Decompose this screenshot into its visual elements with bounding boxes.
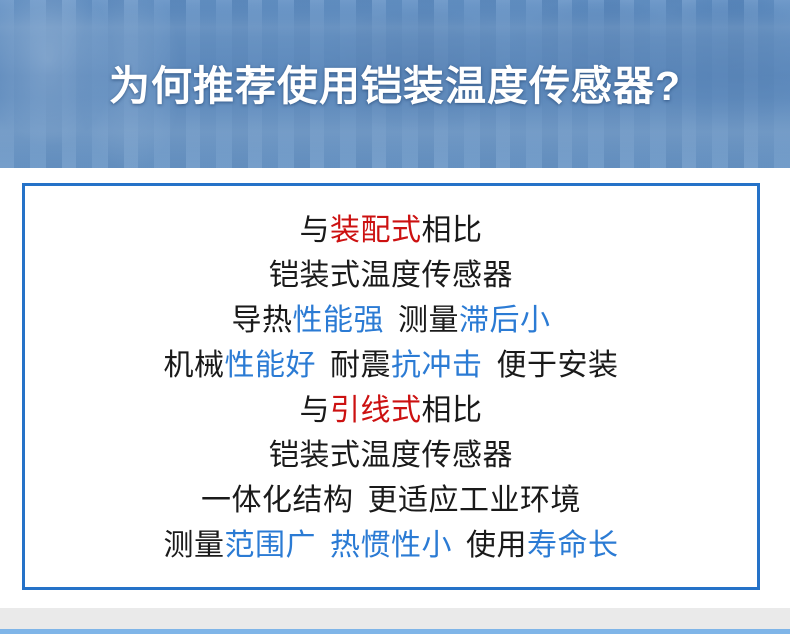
content-panel: 与装配式相比铠装式温度传感器导热性能强测量滞后小机械性能好耐震抗冲击便于安装与引… (0, 168, 790, 608)
feature-line: 与引线式相比 (25, 388, 757, 433)
feature-text-segment: 热惯性小 (330, 529, 452, 562)
feature-text-segment: 范围广 (225, 529, 317, 562)
feature-text-segment: 机械 (164, 349, 225, 382)
feature-list-frame: 与装配式相比铠装式温度传感器导热性能强测量滞后小机械性能好耐震抗冲击便于安装与引… (22, 183, 760, 590)
feature-line: 测量范围广热惯性小使用寿命长 (25, 523, 757, 568)
feature-text-segment: 相比 (422, 214, 483, 247)
feature-line: 机械性能好耐震抗冲击便于安装 (25, 343, 757, 388)
feature-text-segment: 滞后小 (459, 304, 551, 337)
feature-text-segment: 铠装式温度传感器 (269, 439, 513, 472)
feature-text-segment: 装配式 (330, 214, 422, 247)
product-feature-page: 为何推荐使用铠装温度传感器? 与装配式相比铠装式温度传感器导热性能强测量滞后小机… (0, 0, 790, 634)
footer-gray-band (0, 608, 790, 629)
page-title: 为何推荐使用铠装温度传感器? (0, 66, 790, 107)
feature-line: 与装配式相比 (25, 208, 757, 253)
feature-text-segment: 一体化结构 (201, 484, 354, 517)
feature-text-segment: 抗冲击 (391, 349, 483, 382)
feature-text-segment: 寿命长 (527, 529, 619, 562)
feature-text-segment: 铠装式温度传感器 (269, 259, 513, 292)
feature-text-segment: 性能好 (225, 349, 317, 382)
feature-line: 导热性能强测量滞后小 (25, 298, 757, 343)
feature-text-segment: 耐震 (330, 349, 391, 382)
feature-text-segment: 性能强 (293, 304, 385, 337)
feature-line: 一体化结构更适应工业环境 (25, 478, 757, 523)
hero-banner: 为何推荐使用铠装温度传感器? (0, 0, 790, 168)
feature-text-segment: 测量 (164, 529, 225, 562)
feature-text-segment: 使用 (466, 529, 527, 562)
feature-text-segment: 导热 (232, 304, 293, 337)
feature-line: 铠装式温度传感器 (25, 433, 757, 478)
feature-text-segment: 与 (300, 214, 331, 247)
feature-text-segment: 引线式 (330, 394, 422, 427)
feature-line-list: 与装配式相比铠装式温度传感器导热性能强测量滞后小机械性能好耐震抗冲击便于安装与引… (25, 208, 757, 568)
footer-blue-band (0, 629, 790, 634)
feature-line: 铠装式温度传感器 (25, 253, 757, 298)
feature-text-segment: 更适应工业环境 (368, 484, 582, 517)
feature-text-segment: 测量 (398, 304, 459, 337)
feature-text-segment: 与 (300, 394, 331, 427)
feature-text-segment: 相比 (422, 394, 483, 427)
feature-text-segment: 便于安装 (497, 349, 619, 382)
